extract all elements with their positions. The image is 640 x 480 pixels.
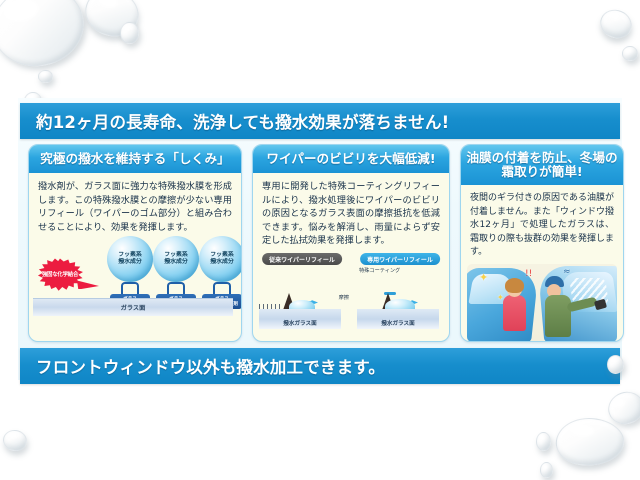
water-droplet-icon [554,415,627,470]
woman-head [507,282,522,297]
woman-figure-icon [507,282,526,331]
man-coat [545,295,571,337]
panel-wiper-judder-body: 専用に開発した特殊コーティングリフィールにより、撥水処理後にワイパーのビビリの原… [253,173,449,248]
repellent-sphere: フッ素系 撥水成分 [153,236,199,282]
glass-surface-bar: ガラス面 [33,298,233,316]
panel-oil-film-frost-body: 夜間のギラ付きの原因である油膜が付着しません。また「ウィンドウ撥水12ヶ月」で処… [461,185,623,260]
panel-oil-film-frost: 油膜の付着を防止、冬場の霜取りが簡単! 夜間のギラ付きの原因である油膜が付着しま… [460,144,624,342]
panel-oil-film-frost-header: 油膜の付着を防止、冬場の霜取りが簡単! [461,145,623,185]
panel-wiper-judder-figure: 従来ワイパーリフィール 摩擦 撥水ガラス面 専用ワイパーリフィール 特殊コーティ… [253,251,449,331]
repellent-sphere-line2: 撥水成分 [210,259,234,266]
headline-banner-bottom-text: フロントウィンドウ以外も撥水加工できます。 [20,354,385,378]
exclaim-icon: !! [525,270,532,279]
special-coating-label: 特殊コーティング [359,267,400,274]
chemical-bond-pointer [77,280,99,289]
promo-slide: 約12ヶ月の長寿命、洗浄しても撥水効果が落ちません! 究極の撥水を維持する「しく… [0,0,640,480]
repellent-sphere: フッ素系 撥水成分 [107,236,153,282]
dedicated-wiper-tag: 専用ワイパーリフィール [360,253,440,265]
headline-banner-top-text: 約12ヶ月の長寿命、洗浄しても撥水効果が落ちません! [20,109,449,133]
headline-banner-top: 約12ヶ月の長寿命、洗浄しても撥水効果が落ちません! [20,103,620,139]
water-droplet-icon [540,462,553,478]
panel-wiper-judder: ワイパーのビビリを大幅低減! 専用に開発した特殊コーティングリフィールにより、撥… [252,144,450,342]
conventional-wiper-diagram: 従来ワイパーリフィール 摩擦 撥水ガラス面 [253,251,351,331]
water-droplet-icon [607,355,624,374]
woman-coat [503,295,526,331]
repellent-sphere: フッ素系 撥水成分 [199,236,242,282]
conventional-wiper-tag: 従来ワイパーリフィール [262,253,342,265]
water-droplet-icon [38,70,53,83]
bond-linker-icon [121,282,139,294]
man-figure-icon [545,276,571,337]
water-droplet-icon [536,432,551,451]
headline-banner-bottom: フロントウィンドウ以外も撥水加工できます。 [20,348,620,384]
water-droplet-icon [0,0,91,75]
repellent-sphere-line2: 撥水成分 [118,259,142,266]
chemical-bond-badge: 強固な化学結合 [37,258,83,292]
panel-mechanism-figure: 強固な化学結合 フッ素系 撥水成分 ガラス コーティング剤 フッ素系 撥水成分 [29,236,241,322]
repellent-sphere-line2: 撥水成分 [164,259,188,266]
friction-label: 摩擦 [339,294,349,301]
panel-wiper-judder-header: ワイパーのビビリを大幅低減! [253,145,449,173]
sparkle-icon: ✦ [497,294,504,302]
water-droplet-icon [622,46,638,61]
panel-mechanism-body: 撥水剤が、ガラス面に強力な特殊撥水膜を形成します。この特殊撥水膜との摩擦が少ない… [29,173,241,234]
water-droplet-icon [596,5,636,43]
panel-oil-film-frost-illustration: ✦ ✦ !! ≈ [467,264,617,342]
bond-linker-icon [167,282,185,294]
sparkle-icon: ✦ [479,272,488,283]
panel-mechanism-header: 究極の撥水を維持する「しくみ」 [29,145,241,173]
water-droplet-icon [120,22,139,44]
bond-linker-icon [213,282,231,294]
water-droplet-icon [1,428,28,453]
woman-hair [505,278,524,293]
repellent-glass-surface: 撥水ガラス面 [259,309,341,329]
panel-mechanism: 究極の撥水を維持する「しくみ」 撥水剤が、ガラス面に強力な特殊撥水膜を形成します… [28,144,242,342]
sparkle-icon: ≈ [563,268,571,277]
repellent-glass-surface: 撥水ガラス面 [357,309,439,329]
chemical-bond-badge-label: 強固な化学結合 [42,272,78,278]
dedicated-wiper-diagram: 専用ワイパーリフィール 特殊コーティング 撥水ガラス面 [351,251,449,331]
